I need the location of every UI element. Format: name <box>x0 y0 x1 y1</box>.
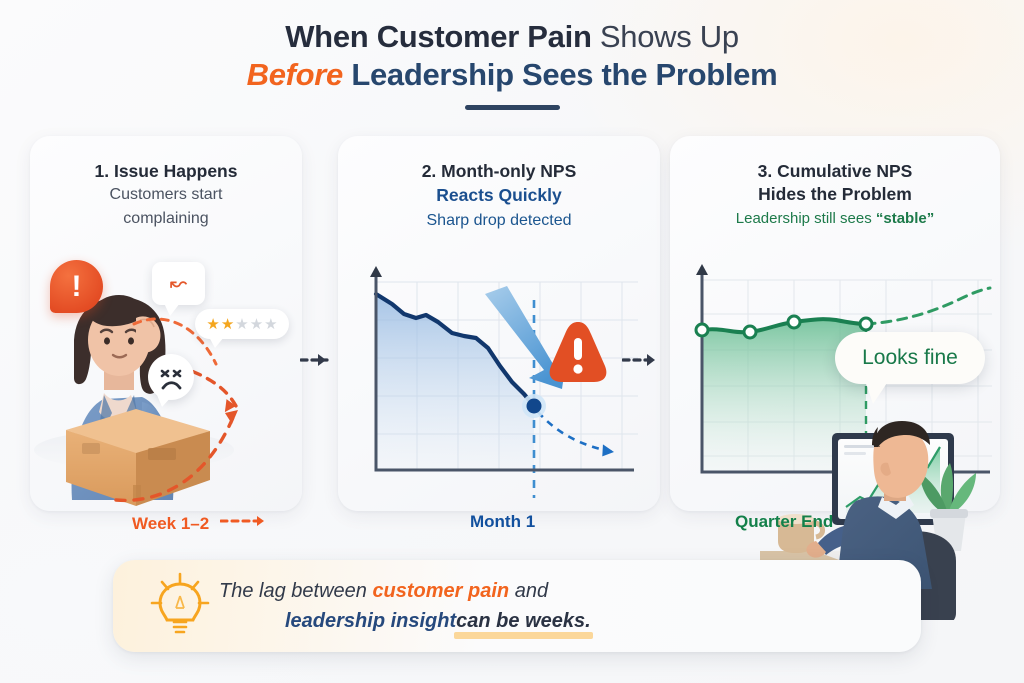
connector-arrow-1 <box>300 352 342 368</box>
panel3-sub-prefix: Leadership still sees <box>736 210 876 227</box>
panel1-illustration: ! ↝ ★ ★ ★ ★ ★ <box>30 254 302 511</box>
banner-text-c: and <box>509 580 548 602</box>
chart3-marker-1 <box>696 324 708 336</box>
panel3-sub-quote: “stable” <box>876 210 934 227</box>
angry-face-glyph: ↝ <box>152 262 205 305</box>
panel3-heading-line2: Hides the Problem <box>670 183 1000 206</box>
chart2-projection-line <box>538 412 614 452</box>
alert-icon: ! <box>50 260 103 313</box>
star-icon-5: ★ <box>264 317 277 332</box>
lightbulb-icon <box>149 570 211 643</box>
timeline-label-week-text: Week 1–2 <box>132 514 209 533</box>
title-divider <box>465 105 560 110</box>
title-emphasis-before: Before <box>247 57 343 92</box>
chart-month-only-nps <box>352 260 646 500</box>
star-icon-3: ★ <box>235 317 248 332</box>
banner-highlight-weeks: can be weeks. <box>456 606 591 636</box>
connector-arrow-2 <box>622 352 672 368</box>
complaint-bubble-icon: ↝ <box>152 262 205 305</box>
chart3-marker-4 <box>860 318 872 330</box>
banner-emphasis-leadership-insight: leadership insight <box>285 610 456 632</box>
chart3-projection-line <box>866 288 990 324</box>
looks-fine-label: Looks fine <box>835 332 985 384</box>
chart2-drop-marker <box>527 399 542 414</box>
panel2-heading-line2: Reacts Quickly <box>338 183 660 208</box>
sad-face-icon <box>148 354 194 400</box>
panel2-heading-line1: 2. Month-only NPS <box>338 160 660 183</box>
alert-triangle-icon <box>550 322 607 382</box>
insight-banner-text: The lag between customer pain and leader… <box>215 576 591 636</box>
star-icon-2: ★ <box>221 317 234 332</box>
page-title: When Customer Pain Shows Up Before Leade… <box>0 18 1024 110</box>
panel-card-issue-happens[interactable]: 1. Issue Happens Customers start complai… <box>30 136 302 511</box>
chart-month-only-nps-svg <box>352 260 646 500</box>
banner-line-1: The lag between customer pain and <box>219 576 591 606</box>
panel1-sub-line2: complaining <box>30 207 302 231</box>
panel3-heading-line1: 3. Cumulative NPS <box>670 160 1000 183</box>
insight-banner[interactable]: The lag between customer pain and leader… <box>113 560 921 652</box>
panel2-sub: Sharp drop detected <box>338 208 660 233</box>
panel1-sub-line1: Customers start <box>30 183 302 207</box>
panel3-header: 3. Cumulative NPS Hides the Problem Lead… <box>670 136 1000 231</box>
title-line-1: When Customer Pain Shows Up <box>0 18 1024 56</box>
banner-text-a: The lag between <box>219 580 372 602</box>
star-icon-4: ★ <box>250 317 263 332</box>
star-icon-1: ★ <box>206 317 219 332</box>
chart3-marker-2 <box>744 326 756 338</box>
panel1-header: 1. Issue Happens Customers start complai… <box>30 136 302 231</box>
title-emphasis-customer-pain: When Customer Pain <box>285 19 591 54</box>
timeline-arrow-week <box>220 512 278 532</box>
infographic-canvas: When Customer Pain Shows Up Before Leade… <box>0 0 1024 683</box>
banner-emphasis-customer-pain: customer pain <box>372 580 509 602</box>
title-rest-1: Shows Up <box>592 19 739 54</box>
title-rest-2: Leadership Sees the Problem <box>343 57 777 92</box>
timeline-label-quarter: Quarter End <box>735 512 833 532</box>
star-rating-bubble: ★ ★ ★ ★ ★ <box>195 309 289 339</box>
panel3-sub: Leadership still sees “stable” <box>670 206 1000 231</box>
sad-face-bubble <box>148 354 194 400</box>
title-line-2: Before Leadership Sees the Problem <box>0 56 1024 94</box>
timeline-label-month: Month 1 <box>470 512 535 532</box>
banner-line-2: leadership insight can be weeks. <box>219 606 591 636</box>
panel1-heading: 1. Issue Happens <box>30 160 302 183</box>
looks-fine-bubble: Looks fine <box>835 332 985 384</box>
panel2-header: 2. Month-only NPS Reacts Quickly Sharp d… <box>338 136 660 233</box>
timeline-label-week: Week 1–2 <box>132 512 278 534</box>
chart3-marker-3 <box>788 316 800 328</box>
panel-card-month-only-nps[interactable]: 2. Month-only NPS Reacts Quickly Sharp d… <box>338 136 660 511</box>
